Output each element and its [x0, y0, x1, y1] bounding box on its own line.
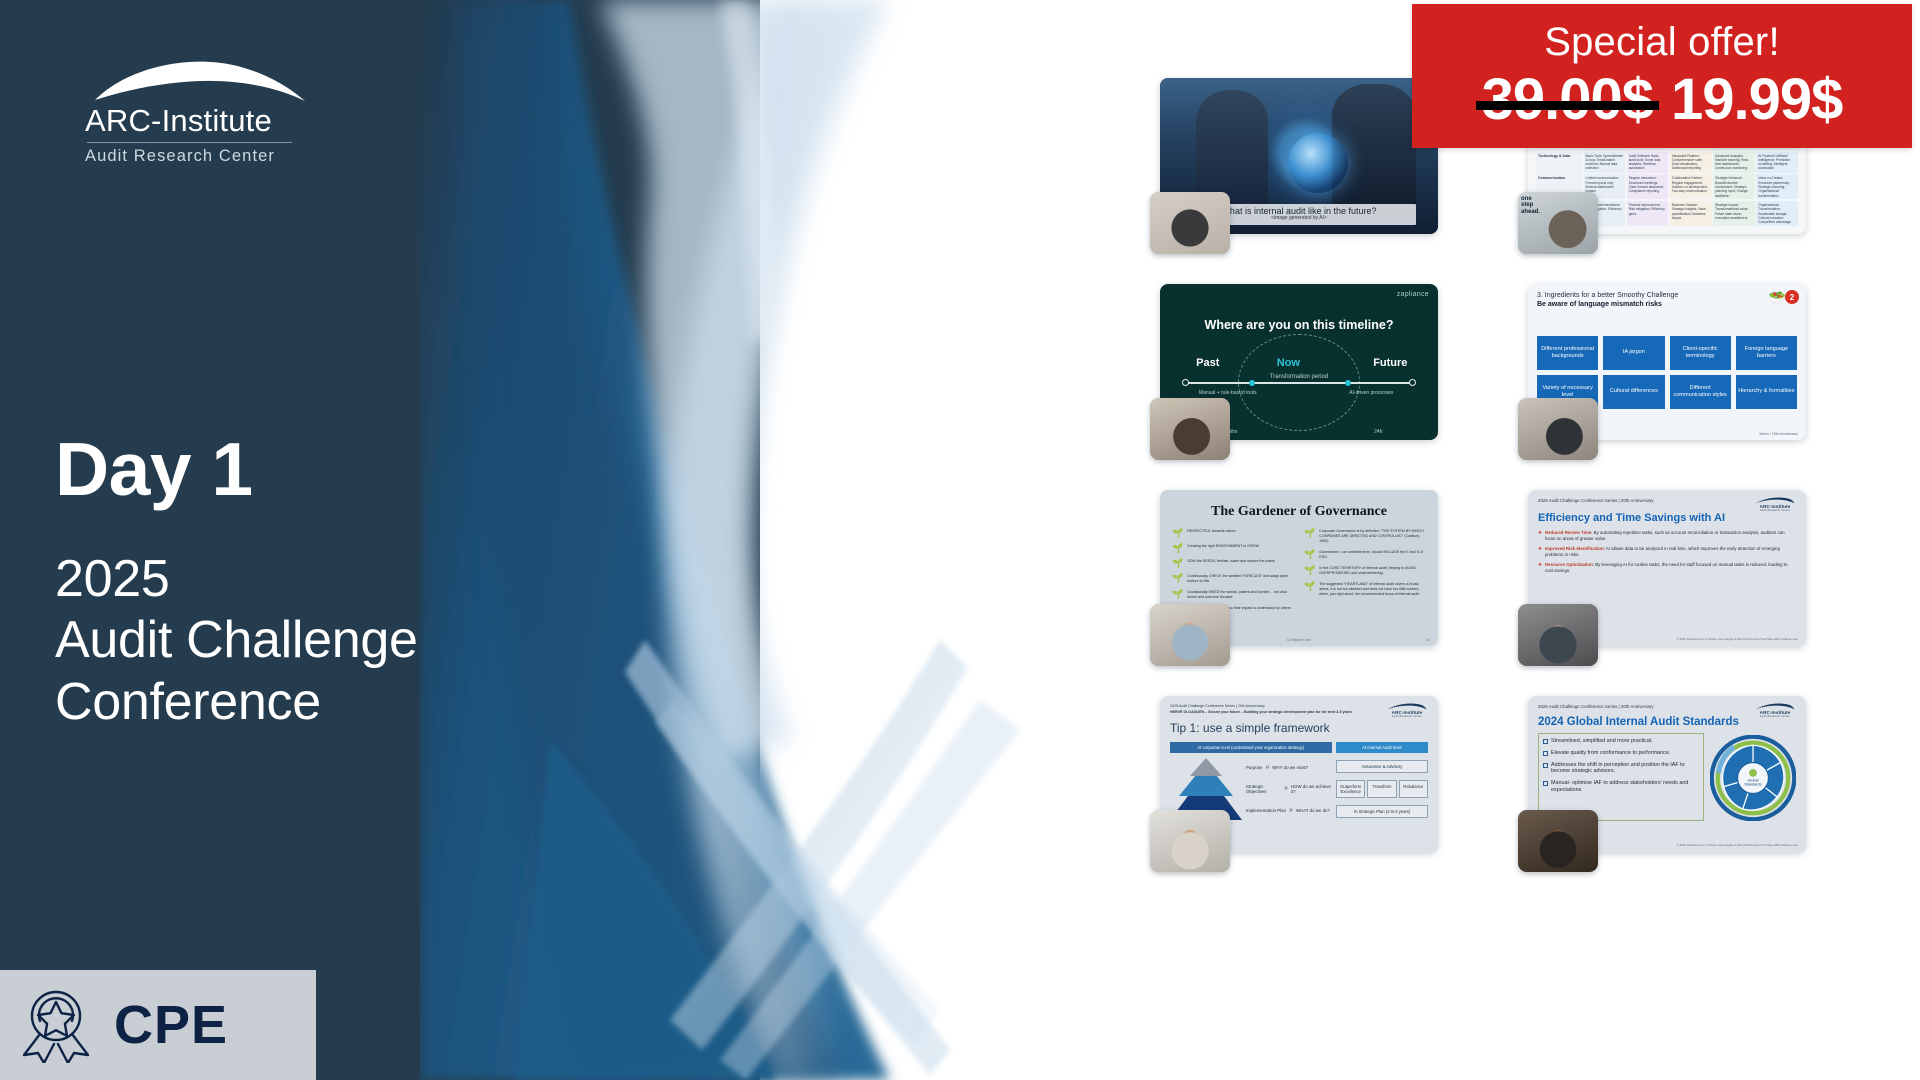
timeline-note-left: Manual + rule-based tools [1199, 390, 1271, 397]
session-card-future-of-internal-audit[interactable]: What is internal audit like in the futur… [1160, 78, 1438, 234]
matrix-cell: Regular Interaction: Structured meetings… [1627, 174, 1669, 199]
arc-logo-subtitle: Audit Research Center [1753, 509, 1797, 512]
matrix-cell: Organisational Transformation: Sustainab… [1756, 201, 1798, 226]
chevron-right-icon: » [1289, 807, 1293, 814]
slide-title: Efficiency and Time Savings with AI [1538, 512, 1796, 524]
leaf-icon: 🌱 [1304, 566, 1315, 575]
leaf-icon: 🌱 [1304, 550, 1315, 559]
matrix-row-label: Technology & Data [1536, 152, 1582, 173]
timeline-scale-right: 24h [1374, 429, 1382, 435]
pyramid-label: Strategic Objectives [1246, 784, 1281, 794]
old-price-text: 39.00$ [1482, 67, 1653, 132]
conference-year: 2025 [55, 549, 675, 610]
arc-logo-subtitle: Audit Research Center [1753, 715, 1797, 718]
timeline-label-past: Past [1196, 357, 1219, 369]
point-text: Occasionally WEED the weeds, patient and… [1187, 590, 1294, 600]
session-thumbnail-grid: What is internal audit like in the futur… [1160, 78, 1880, 852]
speaker-face [1518, 398, 1598, 460]
bullet-lead: Improved Risk Identification [1545, 546, 1604, 551]
svg-text:Standards: Standards [1744, 783, 1761, 787]
slide-page-number: 14 [1426, 638, 1430, 642]
checkbox-icon [1543, 751, 1548, 756]
speaker-thumbnail-6[interactable] [1518, 604, 1598, 666]
matrix-cell: Collaborative Partner: Regular engagemen… [1670, 174, 1712, 199]
risk-box: Hierarchy & formalities [1736, 375, 1797, 409]
checklist: Streamlined, simplified and more practic… [1538, 733, 1704, 821]
offer-title: Special offer! [1412, 4, 1912, 62]
leaf-icon: 🌱 [1304, 529, 1315, 538]
risk-box: Cultural differences [1603, 375, 1664, 409]
pyramid-label: Implementation Plan [1246, 808, 1286, 813]
speaker-face [1518, 810, 1598, 872]
output-box: Outperform Excellence [1336, 780, 1365, 798]
output-row: Outperform Excellence Transform Rebalanc… [1336, 780, 1428, 798]
arc-swoosh-icon [93, 55, 308, 103]
bullet-item: ❖Reduced Review Time: By automating repe… [1538, 530, 1796, 542]
slide-title: 3. Ingredients for a better Smoothy Chal… [1537, 292, 1797, 299]
output-box: IA Strategic Plan (3 to 5 years) [1336, 805, 1428, 818]
speaker-thumbnail-3[interactable] [1150, 398, 1230, 460]
arc-institute-logo-small: ARC-Institute Audit Research Center [1753, 702, 1797, 718]
checkbox-icon [1543, 763, 1548, 768]
chevron-right-icon: » [1265, 764, 1269, 771]
output-box: Assurance & Advisory [1336, 760, 1428, 773]
slide-content: Streamlined, simplified and more practic… [1538, 733, 1796, 821]
matrix-cell: Business Solution: Strategic insights; V… [1670, 201, 1712, 226]
special-offer-banner[interactable]: Special offer! 39.00$ 19.99$ [1412, 4, 1912, 148]
leaf-icon: 🌱 [1172, 590, 1183, 599]
arc-swoosh-icon [1754, 496, 1796, 504]
matrix-cell: Audit Software: Basic audit tools; Some … [1627, 152, 1669, 173]
checklist-item: Manual- optimise IAF to address stakehol… [1543, 780, 1699, 794]
bullet-lead: Resource Optimization [1545, 562, 1593, 567]
session-card-efficiency-ai[interactable]: 2025 Audit Challenge Conference Series |… [1528, 490, 1806, 646]
standards-wheel-diagram: Global Standards [1710, 735, 1796, 821]
framework-question: WHY do we exist? [1272, 765, 1308, 770]
checkbox-icon [1543, 739, 1548, 744]
checklist-text: Addresses the shift in perception and po… [1551, 762, 1699, 776]
speaker-thumbnail-7[interactable] [1150, 810, 1230, 872]
timeline-label-future: Future [1373, 357, 1407, 369]
framework-outputs: Assurance & Advisory Outperform Excellen… [1336, 758, 1428, 820]
speaker-thumbnail-1[interactable] [1150, 192, 1230, 254]
speaker-thumbnail-4[interactable] [1518, 398, 1598, 460]
diamond-bullet-icon: ❖ [1538, 562, 1542, 574]
output-box: Transform [1367, 780, 1396, 798]
session-card-global-standards[interactable]: 2025 Audit Challenge Conference Series |… [1528, 696, 1806, 852]
point-text: Governance = an umbrella term, should IN… [1319, 550, 1426, 560]
leaf-icon: 🌱 [1172, 529, 1183, 538]
svg-text:Global: Global [1748, 778, 1759, 782]
framework-row: Implementation Plan»WHAT do we do? [1246, 807, 1332, 814]
matrix-cell: Integrated Platform: Comprehensive suite… [1670, 152, 1712, 173]
point-text: SOW the SEEDS, fertilise, water and nurt… [1187, 559, 1275, 564]
checklist-item: Addresses the shift in perception and po… [1543, 762, 1699, 776]
speaker-face [1150, 398, 1230, 460]
diamond-bullet-icon: ❖ [1538, 530, 1542, 542]
logo-name: ARC-Institute [85, 105, 415, 138]
point-text: Creating the right ENVIRONMENT to GROW [1187, 544, 1259, 549]
arc-institute-logo: ARC-Institute Audit Research Center [85, 55, 415, 166]
matrix-cell: AI Powered: Artificial intelligence; Pre… [1756, 152, 1798, 173]
conference-line1: Audit Challenge [55, 610, 675, 671]
checklist-item: Elevate quality from conformance to perf… [1543, 750, 1699, 757]
matrix-cell: Basic Tools: Spreadsheets & docs; Email-… [1584, 152, 1626, 173]
cpe-badge: CPE [0, 970, 316, 1080]
conference-title: 2025 Audit Challenge Conference [55, 549, 675, 733]
slide-title: Tip 1: use a simple framework [1170, 721, 1428, 735]
speaker-thumbnail-8[interactable] [1518, 810, 1598, 872]
axis-dot-now-start [1249, 380, 1255, 386]
conference-line2: Conference [55, 672, 675, 733]
bar-corporate-level: At corporate level (understand your orga… [1170, 742, 1332, 753]
pyramid-top [1190, 758, 1222, 776]
slide-footer: Series I 20th Anniversary [1759, 432, 1798, 436]
checklist-item: Streamlined, simplified and more practic… [1543, 738, 1699, 745]
risk-box: Foreign language barriers [1736, 336, 1797, 370]
points-column-left: 🌱RESPECTFUL towards nature 🌱Creating the… [1172, 529, 1294, 615]
day-title: Day 1 [55, 432, 675, 507]
point-text: Corporate Governance is by definition "T… [1319, 529, 1426, 544]
framework-row: Strategic Objectives»HOW do we achieve i… [1246, 784, 1332, 794]
pyramid-label: Purpose [1246, 765, 1262, 770]
arc-institute-logo-small: ARC-Institute Audit Research Center [1753, 496, 1797, 512]
point-item: 🌱In the CORE TERRITORY of internal audit… [1304, 566, 1426, 576]
point-item: 🌱The suggested "HEARTLAND" of internal a… [1304, 582, 1426, 597]
checklist-text: Manual- optimise IAF to address stakehol… [1551, 780, 1699, 794]
point-item: 🌱Corporate Governance is by definition "… [1304, 529, 1426, 544]
bar-audit-level: At Internal Audit level [1336, 742, 1428, 753]
logo-subtitle: Audit Research Center [85, 147, 415, 166]
speaker-face [1150, 192, 1230, 254]
session-card-timeline[interactable]: zapliance Where are you on this timeline… [1160, 284, 1438, 440]
bullet-item: ❖Improved Risk Identification: AI allows… [1538, 546, 1796, 558]
point-item: 🌱Continuously CHECK the weather FORECAST… [1172, 574, 1294, 584]
bullet-item: ❖Resource Optimization: By leveraging AI… [1538, 562, 1796, 574]
one-step-ahead-brand: onestepahead. [1521, 196, 1540, 215]
offer-prices: 39.00$ 19.99$ [1412, 66, 1912, 133]
risk-box: Different professional backgrounds [1537, 336, 1598, 370]
timeline-question: Where are you on this timeline? [1160, 318, 1438, 332]
strikethrough-line [1476, 101, 1659, 110]
bullet-list: ❖Reduced Review Time: By automating repe… [1538, 530, 1796, 574]
leaf-icon: 🌱 [1172, 559, 1183, 568]
arc-swoosh-icon [1754, 702, 1796, 710]
point-item: 🌱SOW the SEEDS, fertilise, water and nur… [1172, 559, 1294, 568]
speaker-thumbnail-5[interactable] [1150, 604, 1230, 666]
point-text: In the CORE TERRITORY of internal audit,… [1319, 566, 1426, 576]
timeline-label-now: Now [1277, 357, 1300, 369]
bullet-lead: Reduced Review Time [1545, 530, 1591, 535]
point-item: 🌱Creating the right ENVIRONMENT to GROW [1172, 544, 1294, 553]
point-item: 🌱RESPECTFUL towards nature [1172, 529, 1294, 538]
timeline-axis [1185, 382, 1413, 384]
point-text: The suggested "HEARTLAND" of internal au… [1319, 582, 1426, 597]
point-text: RESPECTFUL towards nature [1187, 529, 1235, 534]
matrix-cell: Process improvement; Risk mitigation; Ef… [1627, 201, 1669, 226]
risk-box: Different communication styles [1670, 375, 1731, 409]
framework-question: WHAT do we do? [1296, 808, 1330, 813]
checklist-text: Elevate quality from conformance to perf… [1551, 750, 1670, 757]
speaker-face [1150, 604, 1230, 666]
checklist-text: Streamlined, simplified and more practic… [1551, 738, 1653, 745]
axis-dot-now-end [1345, 380, 1351, 386]
diamond-bullet-icon: ❖ [1538, 546, 1542, 558]
arc-institute-logo-small: ARC-Institute Audit Research Center [1385, 702, 1429, 718]
slide-canvas: ARC-Institute Audit Research Center Day … [0, 0, 1920, 1080]
speaker-face [1518, 604, 1598, 666]
timeline-note-right: AI-driven processes [1335, 390, 1407, 397]
point-text: Continuously CHECK the weather FORECAST … [1187, 574, 1294, 584]
chevron-right-icon: » [1284, 785, 1288, 792]
risk-box: Client-specific terminology [1670, 336, 1731, 370]
leaf-icon: 🌱 [1304, 582, 1315, 591]
points-column-right: 🌱Corporate Governance is by definition "… [1304, 529, 1426, 615]
matrix-cell: Value co-Creator: Executive partnership;… [1756, 174, 1798, 199]
arc-logo-subtitle: Audit Research Center [1385, 715, 1429, 718]
cpe-label: CPE [114, 994, 228, 1056]
logo-divider [87, 142, 292, 143]
arc-swoosh-icon [1386, 702, 1428, 710]
risk-box: IA jargon [1603, 336, 1664, 370]
level-bars: At corporate level (understand your orga… [1170, 742, 1428, 753]
framework-questions: Purpose»WHY do we exist? Strategic Objec… [1246, 758, 1332, 820]
session-card-gardener-of-governance[interactable]: The Gardener of Governance 🌱RESPECTFUL t… [1160, 490, 1438, 646]
matrix-cell: Advanced Analytics: Machine learning; Re… [1713, 152, 1755, 173]
leaf-icon: 🌱 [1172, 544, 1183, 553]
offer-old-price: 39.00$ [1482, 66, 1653, 133]
output-box: Rebalance [1399, 780, 1428, 798]
points-columns: 🌱RESPECTFUL towards nature 🌱Creating the… [1172, 529, 1426, 615]
timeline-subtitle: Transformation period [1160, 374, 1438, 380]
ai-globe-icon [1288, 133, 1348, 193]
headline-block: Day 1 2025 Audit Challenge Conference [55, 432, 675, 733]
framework-question: HOW do we achieve it? [1291, 784, 1332, 794]
point-item: 🌱Occasionally WEED the weeds, patient an… [1172, 590, 1294, 600]
step-badge: 2 [1785, 290, 1799, 304]
point-item: 🌱Governance = an umbrella term, should I… [1304, 550, 1426, 560]
framework-row: Purpose»WHY do we exist? [1246, 764, 1332, 771]
smoothie-icon: 🥗 [1769, 289, 1786, 306]
speaker-face [1150, 810, 1230, 872]
zapliance-logo: zapliance [1397, 291, 1429, 298]
session-card-simple-framework[interactable]: 2025 Audit Challenge Conference Series |… [1160, 696, 1438, 852]
session-card-language-mismatch[interactable]: 3. Ingredients for a better Smoothy Chal… [1528, 284, 1806, 440]
award-medal-icon [18, 987, 94, 1063]
pyramid-mid [1179, 776, 1233, 796]
speaker-thumbnail-2[interactable]: onestepahead. [1518, 192, 1598, 254]
matrix-cell: Strategic Influence: Board/executive inv… [1713, 174, 1755, 199]
slide-subtitle: Be aware of language mismatch risks [1537, 301, 1797, 308]
checkbox-icon [1543, 781, 1548, 786]
offer-new-price: 19.99$ [1671, 66, 1842, 133]
leaf-icon: 🌱 [1172, 574, 1183, 583]
slide-title: The Gardener of Governance [1172, 504, 1426, 520]
matrix-cell: Strategic Impact: Transformational value… [1713, 201, 1755, 226]
